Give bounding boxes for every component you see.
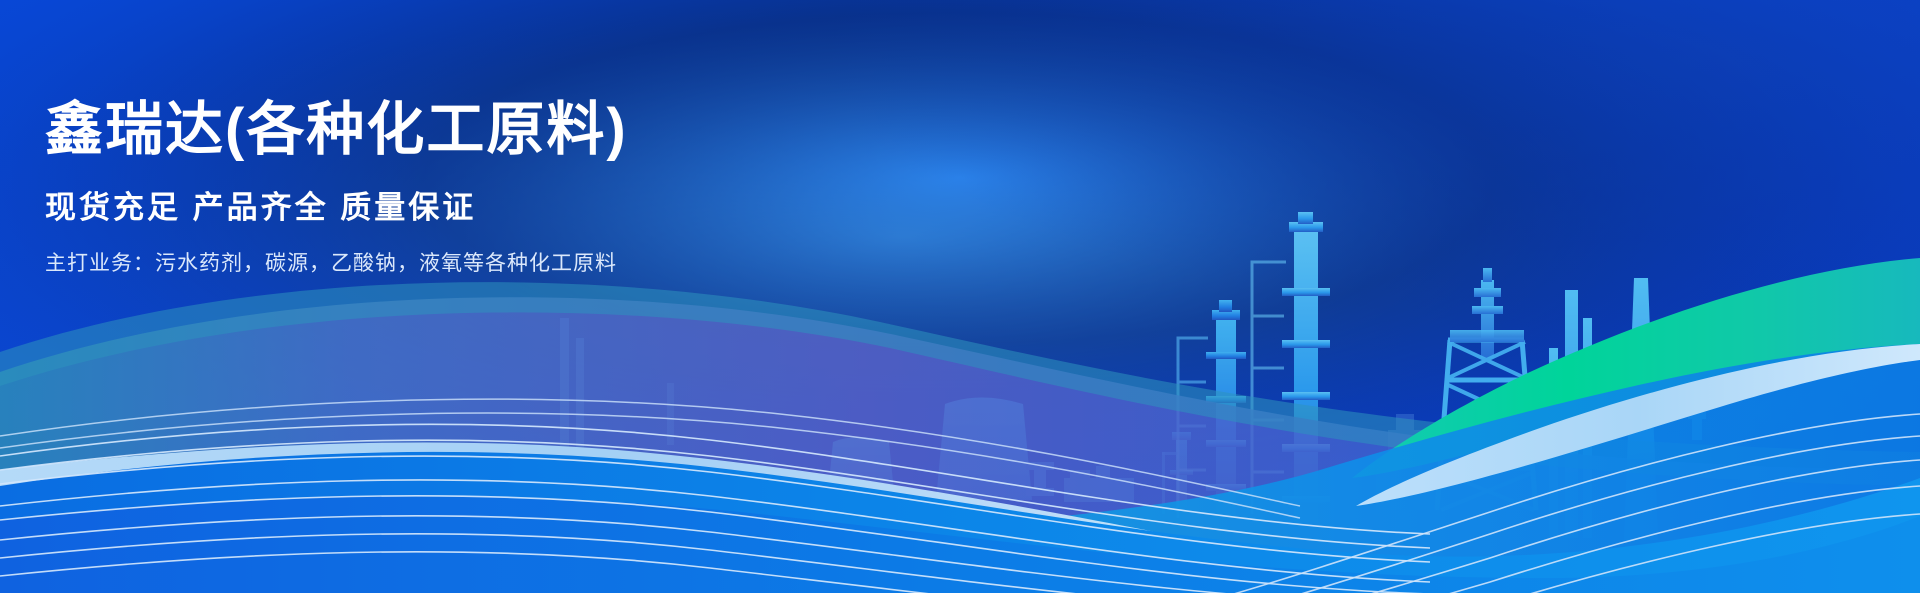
promo-banner: 鑫瑞达(各种化工原料) 现货充足 产品齐全 质量保证 主打业务：污水药剂，碳源，… <box>0 0 1920 593</box>
page-subtitle: 现货充足 产品齐全 质量保证 <box>45 182 1045 227</box>
page-title: 鑫瑞达(各种化工原料) <box>45 96 1045 164</box>
flowing-wave-ribbons <box>0 258 1920 593</box>
headline-group: 鑫瑞达(各种化工原料) 现货充足 产品齐全 质量保证 主打业务：污水药剂，碳源，… <box>45 96 1045 277</box>
scene-artwork <box>0 0 1920 593</box>
business-tagline: 主打业务：污水药剂，碳源，乙酸钠，液氧等各种化工原料 <box>45 247 1045 277</box>
